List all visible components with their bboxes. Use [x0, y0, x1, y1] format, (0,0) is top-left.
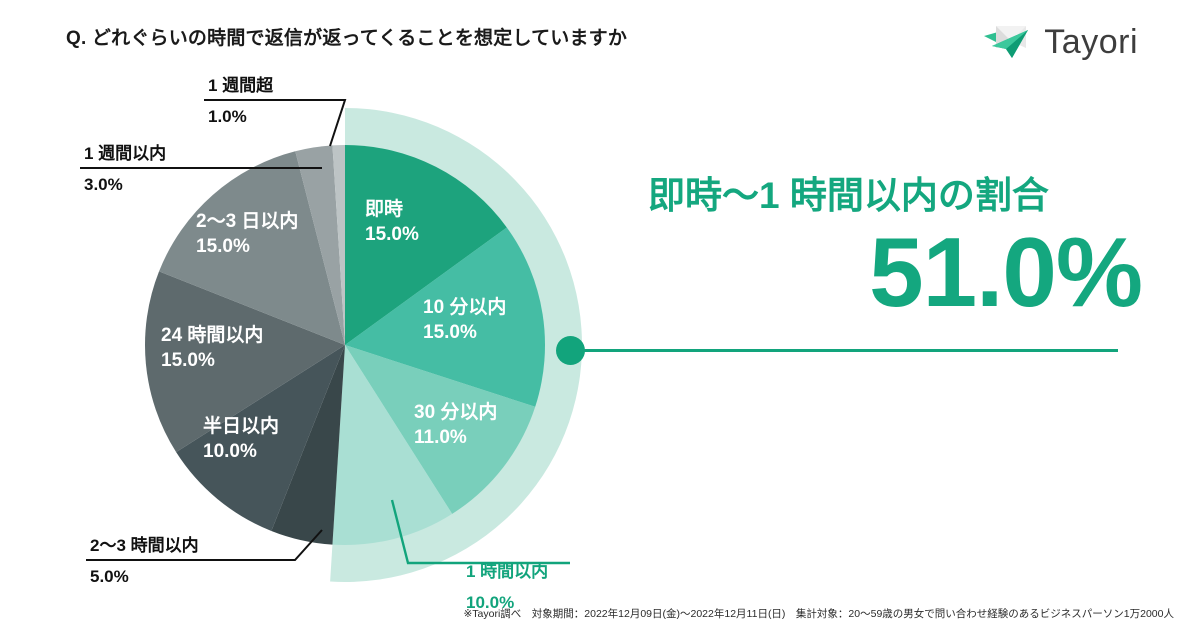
out-value-over1week: 1.0%: [208, 107, 247, 126]
slice-label-30min: 30 分以内: [414, 400, 497, 423]
slice-label-sokuji: 即時: [365, 198, 403, 220]
out-label-within1hour: 1 時間以内: [466, 561, 548, 581]
slice-value-24h: 15.0%: [161, 350, 215, 371]
out-label-over1week: 1 週間超: [208, 75, 274, 95]
slice-value-sokuji: 15.0%: [365, 224, 419, 245]
slice-label-hanjitsu: 半日以内: [203, 414, 279, 437]
slice-value-10min: 15.0%: [423, 322, 477, 343]
kpi-underline: [570, 349, 1118, 352]
out-label-within1week: 1 週間以内: [84, 143, 166, 163]
kpi-label: 即時〜1 時間以内の割合: [648, 176, 1148, 217]
kpi-block: 即時〜1 時間以内の割合 51.0%: [648, 176, 1148, 321]
slice-label-2to3days: 2〜3 日以内: [196, 209, 298, 232]
slice-value-30min: 11.0%: [414, 427, 467, 448]
slice-label-24h: 24 時間以内: [161, 323, 263, 346]
slice-value-hanjitsu: 10.0%: [203, 441, 257, 462]
out-value-2to3hours: 5.0%: [90, 567, 129, 586]
out-label-2to3hours: 2〜3 時間以内: [90, 535, 199, 555]
out-value-within1week: 3.0%: [84, 175, 123, 194]
slice-label-10min: 10 分以内: [423, 295, 506, 318]
kpi-value: 51.0%: [648, 223, 1148, 321]
slice-value-2to3days: 15.0%: [196, 236, 250, 257]
footnote: ※Tayori調べ 対象期間：2022年12月09日(金)〜2022年12月11…: [0, 606, 1174, 621]
infographic-root: Q. どれぐらいの時間で返信が返ってくることを想定していますか Tayori 即…: [0, 0, 1200, 630]
